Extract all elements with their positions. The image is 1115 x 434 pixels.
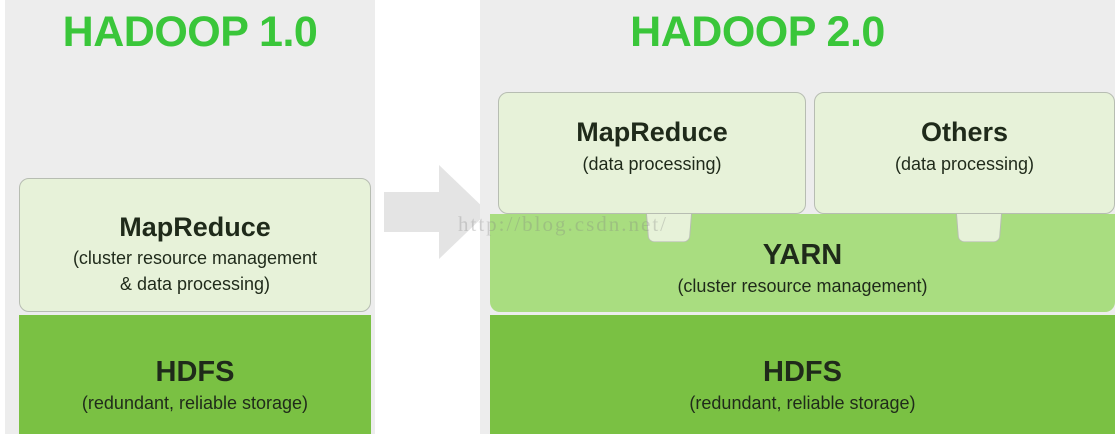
yarn-notch-others xyxy=(956,214,1002,242)
hadoop-2-hdfs-box: HDFS (redundant, reliable storage) xyxy=(490,315,1115,434)
diagram-canvas: HADOOP 1.0 MapReduce (cluster resource m… xyxy=(0,0,1115,434)
hadoop-1-mapreduce-title: MapReduce xyxy=(20,213,370,243)
hadoop-2-others-title: Others xyxy=(815,118,1114,148)
yarn-notch-mapreduce xyxy=(646,214,692,242)
hadoop-2-hdfs-title: HDFS xyxy=(490,357,1115,389)
hadoop-1-hdfs-title: HDFS xyxy=(19,357,371,389)
hadoop-1-hdfs-box: HDFS (redundant, reliable storage) xyxy=(19,315,371,434)
evolution-arrow-icon xyxy=(384,162,488,262)
hadoop-2-yarn-title: YARN xyxy=(490,240,1115,272)
hadoop-2-mapreduce-title: MapReduce xyxy=(499,118,805,148)
hadoop-1-title: HADOOP 1.0 xyxy=(5,8,375,57)
hadoop-2-title: HADOOP 2.0 xyxy=(480,8,1115,57)
hadoop-2-hdfs-subtitle: (redundant, reliable storage) xyxy=(490,392,1115,415)
hadoop-2-others-subtitle: (data processing) xyxy=(815,153,1114,176)
hadoop-1-mapreduce-box: MapReduce (cluster resource management &… xyxy=(19,178,371,312)
hadoop-1-hdfs-subtitle: (redundant, reliable storage) xyxy=(19,392,371,415)
hadoop-1-mapreduce-subtitle-line2: & data processing) xyxy=(20,273,370,296)
hadoop-1-mapreduce-subtitle-line1: (cluster resource management xyxy=(20,247,370,270)
hadoop-2-mapreduce-subtitle: (data processing) xyxy=(499,153,805,176)
hadoop-2-mapreduce-box: MapReduce (data processing) xyxy=(498,92,806,214)
hadoop-2-yarn-box: YARN (cluster resource management) xyxy=(490,214,1115,312)
hadoop-1-panel: HADOOP 1.0 MapReduce (cluster resource m… xyxy=(5,0,375,434)
hadoop-2-yarn-subtitle: (cluster resource management) xyxy=(490,275,1115,298)
hadoop-2-others-box: Others (data processing) xyxy=(814,92,1115,214)
